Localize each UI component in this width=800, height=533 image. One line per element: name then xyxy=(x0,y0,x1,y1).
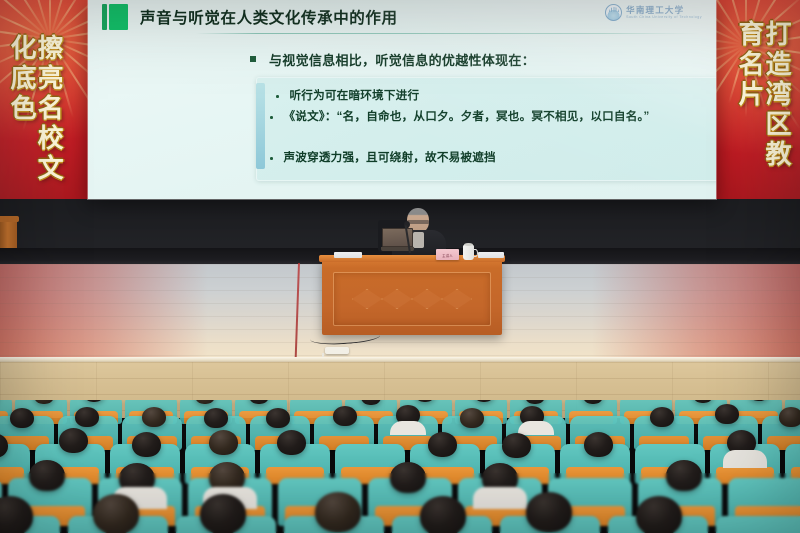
audience-member xyxy=(502,433,531,458)
title-underline xyxy=(196,33,700,34)
slide-content-panel: 听行为可在暗环境下进行 《说文》：“名，自命也，从口夕。夕者，冥也。冥不相见，以… xyxy=(256,77,716,181)
audience-member xyxy=(132,432,161,457)
audience-member xyxy=(715,404,739,424)
slide-point-1-text: 听行为可在暗环境下进行 xyxy=(290,87,420,105)
diamond-motif xyxy=(352,289,382,309)
audience-member xyxy=(75,407,99,427)
power-strip xyxy=(325,347,349,354)
banner-slogan-right: 打造湾区教育名片 xyxy=(736,20,790,199)
audience-member xyxy=(266,408,290,428)
speaker-shirt xyxy=(413,232,424,248)
lead-bullet-text: 与视觉信息相比，听觉信息的优越性体现在： xyxy=(269,50,535,69)
audience-member xyxy=(779,407,800,427)
audience-member xyxy=(315,492,361,532)
lecture-hall-photo: 擦亮名校文化底色 打造湾区教育名片 声音与听觉在人类文化传承中的作用 华南理工大… xyxy=(0,0,800,533)
projection-screen: 声音与听觉在人类文化传承中的作用 华南理工大学 South China Univ… xyxy=(88,0,716,199)
water-mug xyxy=(463,245,474,260)
diamond-motif xyxy=(442,289,472,309)
accent-bar-dark xyxy=(102,4,107,30)
audience-member xyxy=(10,408,34,428)
diamond-motif xyxy=(382,289,412,309)
slide-point-3-text: 声波穿透力强，且可绕射，故不易被遮挡 xyxy=(284,149,496,167)
audience-member xyxy=(0,496,33,533)
slide-title: 声音与听觉在人类文化传承中的作用 xyxy=(140,6,398,28)
audience-area xyxy=(0,400,800,533)
university-logo: 华南理工大学 South China University of Technol… xyxy=(605,4,702,21)
lead-bullet-row: 与视觉信息相比，听觉信息的优越性体现在： xyxy=(250,50,535,69)
square-bullet-icon xyxy=(250,56,256,62)
audience-head-row xyxy=(0,428,800,453)
audience-member xyxy=(584,432,613,457)
audience-member xyxy=(526,492,572,532)
audience-member xyxy=(142,407,166,427)
podium-diamond-pattern xyxy=(352,286,472,312)
audience-member xyxy=(650,407,674,427)
audience-member xyxy=(666,460,702,491)
audience-member xyxy=(277,430,306,455)
speaker-name-plate: 主讲人 xyxy=(436,249,459,260)
name-plate-text: 主讲人 xyxy=(436,253,459,258)
accent-bar-bright xyxy=(109,4,128,30)
audience-member xyxy=(460,408,484,428)
audience-head-row xyxy=(0,404,800,424)
slide-point-1: 听行为可在暗环境下进行 xyxy=(276,87,419,105)
audience-member xyxy=(29,460,65,491)
audience-member xyxy=(204,408,228,428)
university-name-en: South China University of Technology xyxy=(626,15,702,19)
audience-head-row xyxy=(0,459,800,490)
audience-member xyxy=(636,496,682,533)
dot-bullet-icon xyxy=(270,157,273,160)
desk-papers-left xyxy=(334,252,362,258)
audience-member xyxy=(209,430,238,455)
podium-desk xyxy=(322,259,502,335)
audience-member xyxy=(333,406,357,426)
audience-member xyxy=(420,496,466,533)
slide-point-3: 声波穿透力强，且可绕射，故不易被遮挡 xyxy=(270,149,496,167)
desk-papers-right xyxy=(478,252,504,258)
audience-member xyxy=(59,428,88,453)
audience-member xyxy=(428,432,457,457)
audience-head-row xyxy=(0,491,800,531)
audience-member xyxy=(93,494,139,533)
diamond-motif xyxy=(412,289,442,309)
dot-bullet-icon xyxy=(276,95,279,98)
slide-point-2-text: 《说文》：“名，自命也，从口夕。夕者，冥也。冥不相见，以口自名。” xyxy=(284,108,650,126)
banner-slogan-left: 擦亮名校文化底色 xyxy=(8,34,62,199)
dot-bullet-icon xyxy=(270,116,273,119)
slide-point-2: 《说文》：“名，自命也，从口夕。夕者，冥也。冥不相见，以口自名。” xyxy=(270,108,710,126)
glasses-icon xyxy=(407,220,429,224)
audience-member xyxy=(390,462,426,493)
university-seal-icon xyxy=(605,4,622,21)
podium-front-panel xyxy=(333,272,491,326)
audience-member xyxy=(200,494,246,533)
university-name-cn: 华南理工大学 xyxy=(626,6,702,15)
